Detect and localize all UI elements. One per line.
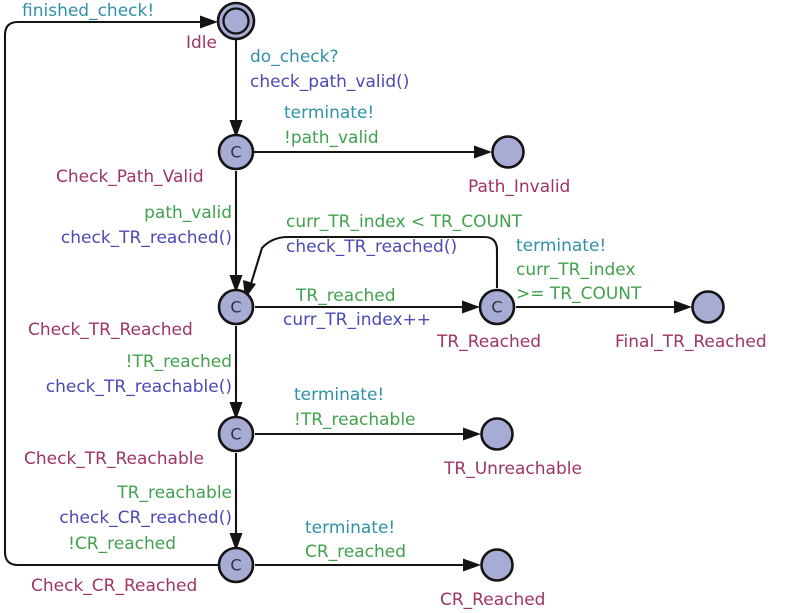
transition-label-check-tr-reachable-update: check_TR_reachable() bbox=[24, 377, 232, 398]
state-label-check-path-valid: Check_Path_Valid bbox=[56, 167, 204, 188]
arrow-head-to-idle bbox=[200, 16, 218, 29]
state-label-idle: Idle bbox=[186, 33, 217, 54]
arrow-head-final-tr-reached bbox=[674, 301, 692, 314]
arrow-head-cr-reached bbox=[463, 559, 481, 572]
transition-label-not-path-valid-guard: !path_valid bbox=[284, 128, 379, 149]
state-node-idle-inner bbox=[224, 9, 249, 34]
state-label-check-tr-reachable: Check_TR_Reachable bbox=[24, 449, 204, 470]
state-label-check-cr-reached: Check_CR_Reached bbox=[31, 576, 197, 597]
state-label-tr-reached: TR_Reached bbox=[437, 332, 541, 353]
transition-label-final-guard-line1: curr_TR_index bbox=[516, 260, 636, 281]
arrow-head-tr-unreachable bbox=[463, 428, 481, 441]
committed-glyph-tr-reached: C bbox=[491, 298, 502, 317]
committed-glyph-check-cr-reached: C bbox=[230, 556, 241, 575]
state-node-path-invalid[interactable] bbox=[493, 137, 524, 168]
state-label-cr-reached: CR_Reached bbox=[440, 590, 545, 611]
transition-label-check-path-valid-update: check_path_valid() bbox=[250, 72, 409, 93]
arrow-head-path-invalid bbox=[474, 146, 492, 159]
transition-label-curr-tr-index-increment: curr_TR_index++ bbox=[283, 310, 431, 331]
transition-label-check-cr-reached-update: check_CR_reached() bbox=[24, 508, 232, 529]
transition-label-finished-check-sync: finished_check! bbox=[22, 1, 154, 22]
state-machine-diagram: C C C C C Idle Check_Path_Valid Path_Inv… bbox=[0, 0, 789, 613]
transition-label-terminate-unreachable-sync: terminate! bbox=[294, 385, 384, 406]
transition-label-terminate-final-sync: terminate! bbox=[516, 236, 606, 257]
transition-label-final-guard-line2: >= TR_COUNT bbox=[516, 284, 641, 305]
committed-glyph-check-path-valid: C bbox=[230, 143, 241, 162]
transition-label-path-valid-guard: path_valid bbox=[24, 203, 232, 224]
transition-label-not-cr-reached-guard: !CR_reached bbox=[24, 534, 176, 555]
state-label-path-invalid: Path_Invalid bbox=[468, 177, 570, 198]
state-label-check-tr-reached: Check_TR_Reached bbox=[28, 320, 193, 341]
arrow-head-tr-reached bbox=[462, 301, 480, 314]
transition-label-loop-back-guard: curr_TR_index < TR_COUNT bbox=[286, 212, 522, 233]
transition-label-do-check-sync: do_check? bbox=[250, 47, 339, 68]
transition-label-tr-reachable-guard: TR_reachable bbox=[24, 483, 232, 504]
transition-label-cr-reached-guard: CR_reached bbox=[305, 542, 406, 563]
state-node-final-tr-reached[interactable] bbox=[693, 292, 724, 323]
transition-label-loop-back-update: check_TR_reached() bbox=[286, 237, 457, 258]
state-label-final-tr-reached: Final_TR_Reached bbox=[615, 332, 767, 353]
state-label-tr-unreachable: TR_Unreachable bbox=[444, 459, 582, 480]
transition-label-not-tr-reachable-guard: !TR_reachable bbox=[294, 410, 416, 431]
committed-glyph-check-tr-reached: C bbox=[230, 298, 241, 317]
transition-label-tr-reached-guard: TR_reached bbox=[296, 286, 396, 307]
committed-glyph-check-tr-reachable: C bbox=[230, 425, 241, 444]
transition-label-check-tr-reached-update: check_TR_reached() bbox=[24, 228, 232, 249]
state-node-cr-reached[interactable] bbox=[482, 550, 513, 581]
state-node-tr-unreachable[interactable] bbox=[482, 419, 513, 450]
transition-label-terminate-path-invalid-sync: terminate! bbox=[284, 103, 374, 124]
transition-label-terminate-cr-reached-sync: terminate! bbox=[305, 518, 395, 539]
transition-label-not-tr-reached-guard: !TR_reached bbox=[24, 352, 232, 373]
